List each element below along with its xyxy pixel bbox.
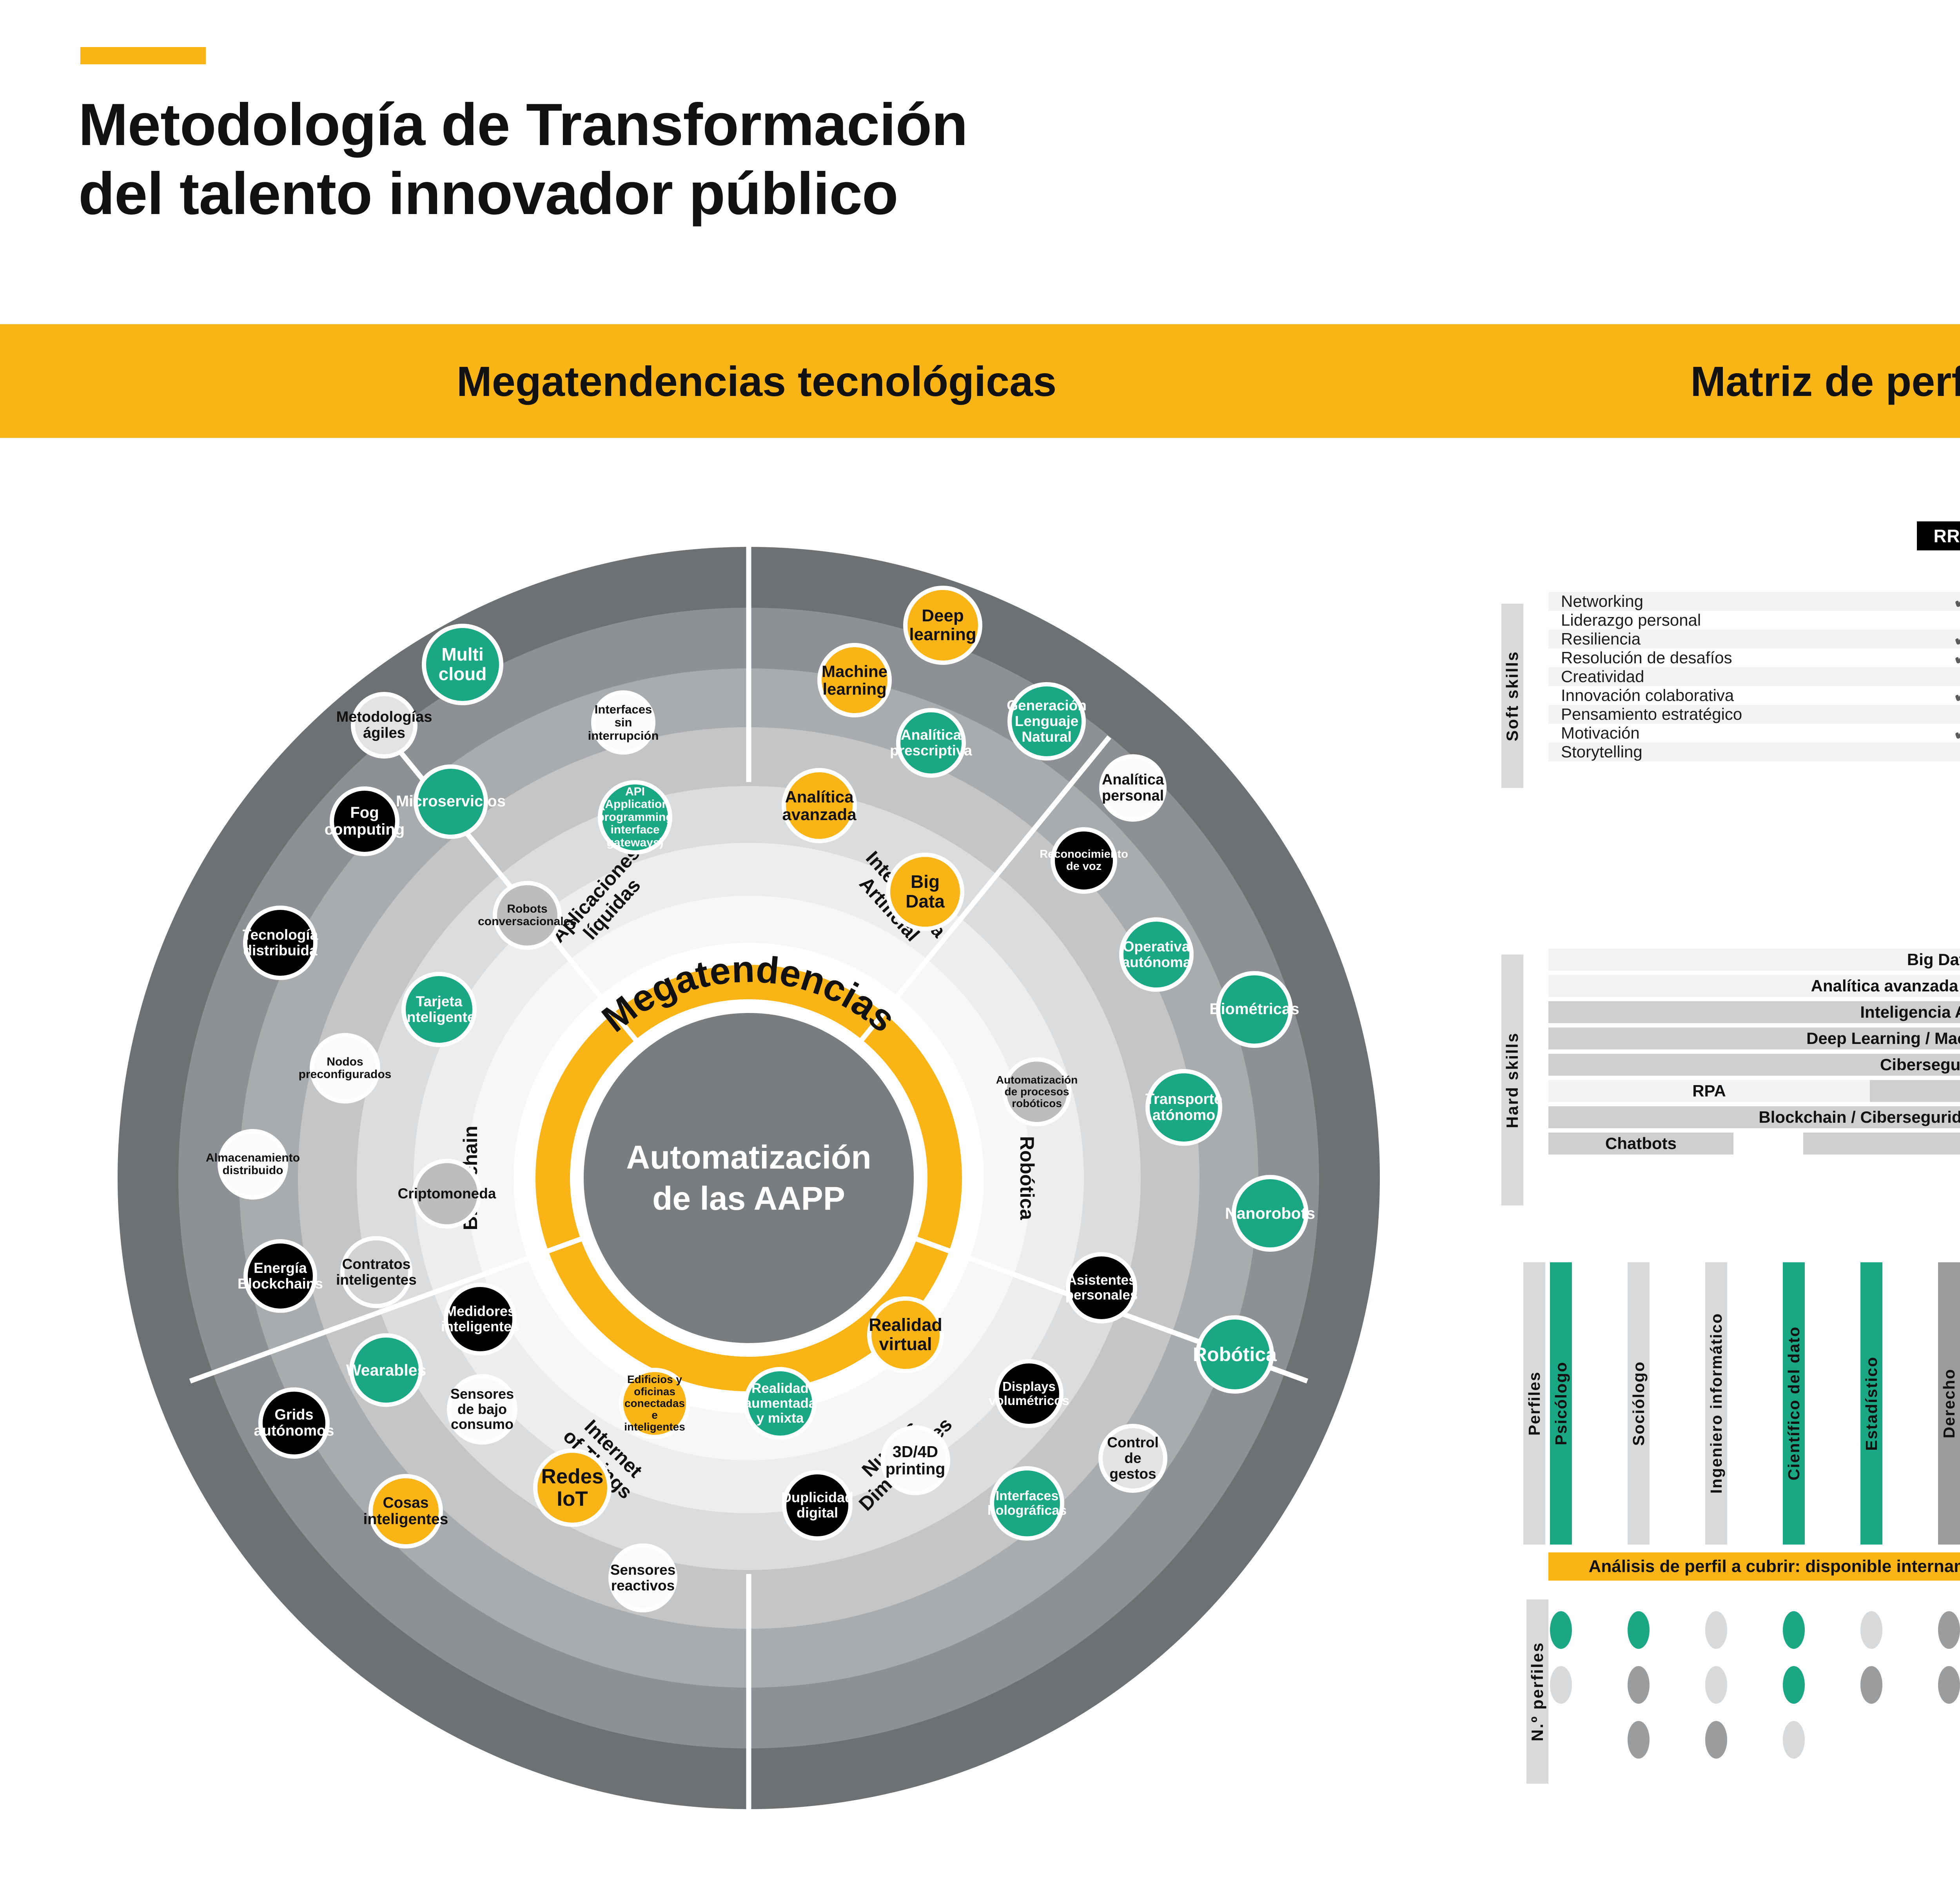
wheel-bubble[interactable]: EnergíaBlockchains xyxy=(243,1239,317,1313)
wheel-bubble[interactable]: Medidoresinteligentes xyxy=(444,1283,517,1356)
profile-bar[interactable]: Psicólogo xyxy=(1550,1262,1572,1545)
wheel-bubble-label: Contratosinteligentes xyxy=(336,1256,417,1288)
profile-count-dot xyxy=(1860,1611,1882,1649)
profile-bar-label: Ingeniero informático xyxy=(1707,1313,1726,1494)
wheel-bubble[interactable]: Analíticaprescriptiva xyxy=(896,708,966,778)
wheel-bubble[interactable]: Realidadvirtual xyxy=(867,1296,944,1373)
wheel-bubble-label: Duplicidaddigital xyxy=(781,1490,853,1521)
wheel-bubble-label: Analíticaavanzada xyxy=(782,788,856,824)
wheel-bubble[interactable]: Deeplearning xyxy=(903,586,982,665)
soft-skills-row-label: Resiliencia xyxy=(1561,630,1641,648)
hard-skills-row: Inteligencia Artificial xyxy=(1548,1001,1960,1023)
wheel-bubble[interactable]: Metodologíaságiles xyxy=(351,692,417,759)
wheel-bubble-label: Tarjetainteligente xyxy=(403,994,475,1025)
check-icon: ✓ xyxy=(1952,645,1960,670)
wheel-center-line2: de las AAPP xyxy=(626,1178,871,1219)
wheel-bubble-label: Analíticapersonal xyxy=(1102,772,1164,804)
profile-count-dot xyxy=(1628,1666,1650,1704)
wheel-bubble[interactable]: Analíticapersonal xyxy=(1099,754,1167,822)
wheel-bubble[interactable]: GeneraciónLenguajeNatural xyxy=(1007,682,1086,761)
wheel-bubble[interactable]: Interfacesholográficas xyxy=(990,1466,1064,1541)
wheel-bubble[interactable]: Fogcomputing xyxy=(330,786,399,856)
wheel-bubble-label: Sensoresreactivos xyxy=(610,1562,676,1594)
infographic-page: Metodología de Transformación del talent… xyxy=(0,0,1960,1886)
soft-skills-row: Storytelling✓✓✓ xyxy=(1548,742,1960,761)
profile-count-dot xyxy=(1938,1611,1960,1649)
wheel-bubble-label: Control degestos xyxy=(1104,1435,1161,1482)
wheel-bubble[interactable]: Machinelearning xyxy=(817,643,892,717)
profile-bar-label: Derecho xyxy=(1940,1369,1958,1438)
accent-bar xyxy=(80,47,206,64)
wheel-bubble-label: Gridsautónomos xyxy=(254,1407,334,1439)
wheel-bubble-label: Transporteatónomo xyxy=(1145,1091,1222,1124)
profile-bar-label: Sociólogo xyxy=(1630,1361,1648,1446)
hard-skills-row: Analítica avanzada y prescriptiva xyxy=(1548,975,1960,997)
soft-skills-row: Motivación✓ xyxy=(1548,724,1960,742)
wheel-bubble[interactable]: Displaysvolumétricos xyxy=(995,1359,1063,1428)
soft-skills-row-label: Networking xyxy=(1561,592,1643,611)
hard-skills-axis-label: Hard skills xyxy=(1501,955,1523,1205)
wheel-bubble[interactable]: Edificios yoficinasconectadase inteligen… xyxy=(619,1368,690,1439)
wheel-bubble-label: Microservicios xyxy=(396,793,506,810)
hard-skills-cell: Blockchain / Ciberseguridad xyxy=(1548,1106,1960,1128)
wheel-bubble[interactable]: Automatizaciónde procesosrobóticos xyxy=(1002,1057,1071,1126)
soft-skills-row: Pensamiento estratégico✓✓ xyxy=(1548,705,1960,724)
soft-skills-row: Liderazgo personal✓ xyxy=(1548,611,1960,630)
profile-bar[interactable]: Científico del dato xyxy=(1783,1262,1805,1545)
wheel-bubble[interactable]: Criptomoneda xyxy=(412,1159,482,1229)
wheel-bubble-label: RedesIoT xyxy=(541,1465,603,1510)
check-icon: ✓ xyxy=(1952,683,1960,707)
megatrends-wheel: Megatendencias Automatización de las AAP… xyxy=(118,547,1380,1809)
check-icon: ✓ xyxy=(1952,589,1960,613)
wheel-bubble-label: EnergíaBlockchains xyxy=(238,1260,323,1292)
wheel-bubble[interactable]: Contratosinteligentes xyxy=(340,1236,412,1308)
profile-count-dot xyxy=(1705,1666,1727,1704)
wheel-bubble[interactable]: Sensoresreactivos xyxy=(608,1543,677,1612)
hard-skills-cell: Ciberseguridad xyxy=(1548,1054,1960,1076)
hard-skills-row: Realidad aumentada xyxy=(1548,1159,1960,1181)
hard-skills-cell: Internet of things xyxy=(1870,1080,1960,1102)
soft-skills-column-header: RRHH xyxy=(1917,521,1960,550)
analysis-note-bar: Análisis de perfil a cubrir: disponible … xyxy=(1548,1552,1960,1581)
profiles-count-axis-label: N.º perfiles xyxy=(1526,1599,1548,1784)
profile-bar-label: Científico del dato xyxy=(1785,1326,1803,1480)
hard-skills-cell: Analítica avanzada y prescriptiva xyxy=(1548,975,1960,997)
band-title-matriz: Matriz de perfiles y competencias xyxy=(1513,324,1960,438)
wheel-bubble-label: Analíticaprescriptiva xyxy=(890,727,972,759)
soft-skills-row: Creatividad✓ xyxy=(1548,667,1960,686)
wheel-bubble-label: Almacenamientodistribuido xyxy=(206,1152,300,1177)
check-icon: ✓ xyxy=(1952,721,1960,745)
profile-count-dot xyxy=(1628,1611,1650,1649)
wheel-bubble-label: Big Data xyxy=(892,872,958,911)
wheel-bubble-label: Interfaces sininterrupción xyxy=(588,703,659,742)
profile-count-dot xyxy=(1550,1666,1572,1704)
wheel-bubble-label: Asistentespersonales xyxy=(1065,1273,1138,1303)
wheel-bubble-label: Edificios yoficinasconectadase inteligen… xyxy=(624,1374,685,1433)
soft-skills-row-label: Storytelling xyxy=(1561,742,1642,761)
wheel-bubble-label: Reconocimientode voz xyxy=(1040,848,1128,873)
wheel-bubble-label: Displaysvolumétricos xyxy=(989,1380,1069,1407)
hard-skills-row: Realidad virtual xyxy=(1548,1185,1960,1207)
wheel-sector-label-robotica: Robótica xyxy=(1016,1136,1038,1220)
wheel-center-line1: Automatización xyxy=(626,1137,871,1178)
hard-skills-cell: Big Data xyxy=(1548,949,1960,971)
wheel-bubble[interactable]: Realidadaumentaday mixta xyxy=(744,1367,817,1440)
wheel-bubble-label: Machinelearning xyxy=(822,663,887,698)
profile-count-dot xyxy=(1628,1721,1650,1759)
wheel-bubble[interactable]: 3D/4Dprinting xyxy=(880,1425,950,1495)
wheel-bubble[interactable]: API(Applicationprogramminginterfacegatew… xyxy=(598,780,672,855)
profile-count-dot xyxy=(1938,1666,1960,1704)
soft-skills-row-label: Resolución de desafíos xyxy=(1561,648,1732,667)
page-title-line2: del talento innovador público xyxy=(78,159,1490,228)
wheel-bubble[interactable]: Tecnologíadistribuida xyxy=(243,906,318,980)
wheel-bubble-label: Operativaautónoma xyxy=(1122,939,1191,970)
wheel-center: Automatización de las AAPP xyxy=(584,1013,914,1343)
wheel-bubble[interactable]: RedesIoT xyxy=(533,1449,612,1527)
wheel-bubble[interactable]: Cosasinteligentes xyxy=(368,1474,443,1548)
profile-count-dot xyxy=(1860,1666,1882,1704)
wheel-bubble[interactable]: Wearables xyxy=(349,1333,423,1407)
wheel-bubble-label: 3D/4Dprinting xyxy=(886,1443,946,1478)
hard-skills-cell: Inteligencia Artificial xyxy=(1548,1001,1960,1023)
profile-count-dot xyxy=(1783,1721,1805,1759)
hard-skills-cell: Chatbots xyxy=(1548,1133,1733,1154)
wheel-bubble-label: Multi cloud xyxy=(428,645,497,684)
profile-bar[interactable]: Derecho xyxy=(1938,1262,1960,1545)
profile-bar-label: Estadístico xyxy=(1862,1356,1881,1451)
wheel-bubble[interactable]: Reconocimientode voz xyxy=(1051,827,1117,894)
soft-skills-row: Resolución de desafíos✓✓✓✓ xyxy=(1548,648,1960,667)
soft-skills-row: Resiliencia✓✓ xyxy=(1548,630,1960,648)
band-title-megatendencias: Megatendencias tecnológicas xyxy=(0,324,1513,438)
wheel-bubble[interactable]: Microservicios xyxy=(414,764,488,839)
profile-count-dot xyxy=(1705,1611,1727,1649)
profile-count-dot xyxy=(1783,1611,1805,1649)
profile-count-dot xyxy=(1783,1666,1805,1704)
wheel-bubble[interactable]: Asistentespersonales xyxy=(1066,1252,1137,1323)
soft-skills-row-label: Pensamiento estratégico xyxy=(1561,705,1742,724)
hard-skills-row: Ciberseguridad xyxy=(1548,1054,1960,1076)
wheel-bubble[interactable]: Nodospreconfigurados xyxy=(310,1033,380,1104)
page-title-line1: Metodología de Transformación xyxy=(78,90,1490,159)
wheel-bubble-label: Deeplearning xyxy=(909,606,976,644)
profiles-axis-bar-label: Perfiles xyxy=(1525,1371,1544,1436)
wheel-bubble-label: GeneraciónLenguajeNatural xyxy=(1007,698,1087,745)
profile-bar[interactable]: Sociólogo xyxy=(1628,1262,1650,1545)
wheel-bubble[interactable]: Tarjetainteligente xyxy=(401,972,477,1047)
wheel-bubble[interactable]: Almacenamientodistribuido xyxy=(218,1129,288,1200)
wheel-bubble-label: Nodospreconfigurados xyxy=(299,1056,392,1081)
wheel-bubble[interactable]: Operativaautónoma xyxy=(1119,917,1194,992)
hard-skills-row: Deep Learning / Machine Learning xyxy=(1548,1027,1960,1049)
wheel-bubble[interactable]: Robótica xyxy=(1196,1315,1274,1394)
wheel-bubble[interactable]: Sensoresde bajoconsumo xyxy=(447,1374,517,1445)
wheel-bubble-label: Metodologíaságiles xyxy=(336,709,432,741)
wheel-bubble-label: Robotsconversacionales xyxy=(478,903,577,928)
wheel-bubble[interactable]: Multi cloud xyxy=(422,624,503,705)
wheel-bubble[interactable]: Duplicidaddigital xyxy=(782,1470,853,1541)
profile-bar[interactable]: Ingeniero informático xyxy=(1705,1262,1727,1545)
profile-count-dot xyxy=(1705,1721,1727,1759)
hard-skills-row: ChatbotsChatbots xyxy=(1548,1133,1960,1154)
profile-bar[interactable]: Estadístico xyxy=(1860,1262,1882,1545)
wheel-bubble-label: API(Applicationprogramminginterfacegatew… xyxy=(597,786,673,849)
hard-skills-cell: Chatbots xyxy=(1803,1133,1960,1154)
wheel-bubble-label: Fogcomputing xyxy=(325,804,405,838)
wheel-bubble-label: Nanorobots xyxy=(1225,1205,1315,1222)
wheel-bubble[interactable]: Transporteatónomo xyxy=(1145,1069,1222,1146)
wheel-bubble-label: Cosasinteligentes xyxy=(363,1495,448,1528)
wheel-bubble-label: Criptomoneda xyxy=(398,1186,496,1202)
wheel-bubble-label: Sensoresde bajoconsumo xyxy=(450,1387,514,1432)
hard-skills-cell: RPA xyxy=(1548,1080,1870,1102)
soft-skills-row-label: Creatividad xyxy=(1561,667,1644,686)
wheel-bubble[interactable]: Nanorobots xyxy=(1232,1175,1308,1252)
soft-skills-row-label: Motivación xyxy=(1561,724,1640,742)
wheel-bubble-label: Tecnologíadistribuida xyxy=(243,927,318,958)
soft-skills-row-label: Liderazgo personal xyxy=(1561,611,1701,630)
wheel-bubble-label: Wearables xyxy=(346,1361,426,1379)
wheel-bubble-label: Biométricas xyxy=(1210,1001,1299,1018)
hard-skills-row: Blockchain / Ciberseguridad xyxy=(1548,1106,1960,1128)
wheel-bubble-label: Automatizaciónde procesosrobóticos xyxy=(996,1074,1078,1110)
wheel-bubble[interactable]: Control degestos xyxy=(1098,1424,1167,1493)
page-title: Metodología de Transformación del talent… xyxy=(78,90,1490,229)
soft-skills-row-label: Innovación colaborativa xyxy=(1561,686,1734,705)
soft-skills-row: Innovación colaborativa✓✓✓ xyxy=(1548,686,1960,705)
wheel-bubble-label: Realidadvirtual xyxy=(869,1316,942,1354)
wheel-bubble-label: Robótica xyxy=(1193,1344,1277,1365)
profiles-axis-bar: Perfiles xyxy=(1523,1262,1545,1545)
wheel-bubble[interactable]: Gridsautónomos xyxy=(258,1387,330,1459)
wheel-bubble[interactable]: Analíticaavanzada xyxy=(782,768,857,843)
wheel-bubble[interactable]: Interfaces sininterrupción xyxy=(591,690,655,755)
wheel-bubble-label: Interfacesholográficas xyxy=(987,1489,1067,1518)
wheel-bubble-label: Medidoresinteligentes xyxy=(441,1304,519,1334)
hard-skills-row: RPAInternet of thingsRPA xyxy=(1548,1080,1960,1102)
wheel-bubble-label: Realidadaumentaday mixta xyxy=(744,1381,817,1425)
hard-skills-row: Big Data xyxy=(1548,949,1960,971)
wheel-bubble[interactable]: Big Data xyxy=(886,853,964,931)
profile-bar-label: Psicólogo xyxy=(1552,1361,1570,1445)
profile-count-dot xyxy=(1550,1611,1572,1649)
matrix-panel: RRHHI+D+iITPLANTA Soft skills Networking… xyxy=(1501,521,1960,1854)
wheel-bubble[interactable]: Robotsconversacionales xyxy=(493,881,562,950)
hard-skills-cell: Deep Learning / Machine Learning xyxy=(1548,1027,1960,1049)
soft-skills-axis-label: Soft skills xyxy=(1501,604,1523,788)
soft-skills-row: Networking✓✓✓ xyxy=(1548,592,1960,611)
wheel-bubble[interactable]: Biométricas xyxy=(1216,971,1293,1048)
